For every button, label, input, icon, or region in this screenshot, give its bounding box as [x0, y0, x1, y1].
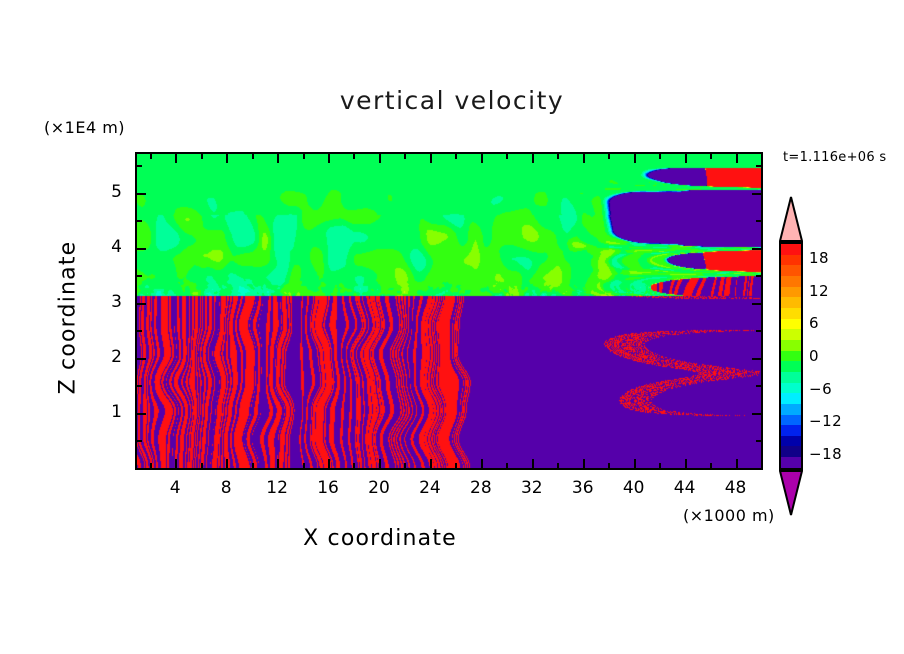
y-minor-tick: [756, 220, 761, 222]
x-major-tick: [532, 154, 534, 163]
y-major-tick: [752, 303, 761, 305]
x-minor-tick: [303, 154, 305, 159]
x-minor-tick: [455, 463, 457, 468]
timestamp-label: t=1.116e+06 s: [783, 150, 886, 165]
colorbar-band: [781, 255, 801, 266]
x-minor-tick: [404, 154, 406, 159]
y-minor-tick: [756, 165, 761, 167]
x-tick-label: 24: [410, 478, 450, 498]
y-major-tick: [137, 413, 146, 415]
y-tick-label: 4: [96, 237, 122, 257]
y-tick-label: 1: [96, 402, 122, 422]
y-minor-tick: [756, 275, 761, 277]
colorbar-tick-label: −12: [809, 412, 842, 430]
x-minor-tick: [303, 463, 305, 468]
colorbar-tick-label: −18: [809, 445, 842, 463]
x-major-tick: [430, 154, 432, 163]
colorbar: 181260−6−12−18: [775, 196, 835, 522]
x-major-tick: [175, 459, 177, 468]
y-axis-title: Z coordinate: [56, 188, 81, 448]
colorbar-band: [781, 265, 801, 276]
x-tick-label: 8: [206, 478, 246, 498]
colorbar-tick-label: 0: [809, 347, 819, 365]
x-major-tick: [175, 154, 177, 163]
colorbar-band: [781, 372, 801, 383]
colorbar-band: [781, 297, 801, 308]
y-minor-tick: [756, 440, 761, 442]
x-minor-tick: [201, 154, 203, 159]
y-axis-unit-label: (×1E4 m): [44, 118, 125, 137]
x-minor-tick: [252, 154, 254, 159]
colorbar-under-arrow-icon: [779, 470, 803, 516]
x-tick-label: 12: [257, 478, 297, 498]
x-minor-tick: [659, 463, 661, 468]
colorbar-band: [781, 404, 801, 415]
x-minor-tick: [659, 154, 661, 159]
colorbar-band: [781, 244, 801, 255]
x-major-tick: [481, 459, 483, 468]
y-tick-label: 3: [96, 292, 122, 312]
colorbar-tick-label: 12: [809, 282, 829, 300]
x-minor-tick: [761, 154, 763, 159]
y-major-tick: [137, 193, 146, 195]
x-minor-tick: [557, 463, 559, 468]
x-major-tick: [226, 154, 228, 163]
colorbar-band: [781, 457, 801, 468]
x-minor-tick: [353, 463, 355, 468]
x-tick-label: 32: [512, 478, 552, 498]
x-major-tick: [736, 154, 738, 163]
x-major-tick: [685, 459, 687, 468]
colorbar-tick-label: 18: [809, 249, 829, 267]
x-major-tick: [634, 154, 636, 163]
colorbar-tick-label: 6: [809, 314, 819, 332]
y-minor-tick: [756, 385, 761, 387]
x-major-tick: [685, 154, 687, 163]
colorbar-band: [781, 329, 801, 340]
x-tick-label: 36: [563, 478, 603, 498]
x-minor-tick: [150, 463, 152, 468]
x-tick-label: 20: [359, 478, 399, 498]
x-minor-tick: [608, 154, 610, 159]
x-tick-label: 16: [308, 478, 348, 498]
contour-field-canvas: [137, 154, 761, 468]
y-minor-tick: [137, 385, 142, 387]
x-minor-tick: [353, 154, 355, 159]
x-major-tick: [277, 154, 279, 163]
y-major-tick: [752, 193, 761, 195]
colorbar-band: [781, 276, 801, 287]
x-minor-tick: [710, 154, 712, 159]
x-axis-title: X coordinate: [0, 526, 760, 551]
colorbar-band: [781, 287, 801, 298]
y-minor-tick: [137, 440, 142, 442]
x-major-tick: [481, 154, 483, 163]
chart-title: vertical velocity: [0, 86, 904, 115]
y-major-tick: [752, 358, 761, 360]
x-minor-tick: [608, 463, 610, 468]
x-minor-tick: [506, 154, 508, 159]
x-minor-tick: [506, 463, 508, 468]
colorbar-tick-label: −6: [809, 380, 832, 398]
y-tick-label: 5: [96, 182, 122, 202]
y-minor-tick: [137, 275, 142, 277]
x-tick-label: 40: [614, 478, 654, 498]
colorbar-over-arrow-icon: [779, 196, 803, 242]
y-major-tick: [137, 303, 146, 305]
colorbar-band: [781, 436, 801, 447]
x-major-tick: [583, 154, 585, 163]
x-major-tick: [277, 459, 279, 468]
y-major-tick: [752, 413, 761, 415]
colorbar-band: [781, 361, 801, 372]
x-tick-label: 28: [461, 478, 501, 498]
colorbar-band: [781, 340, 801, 351]
y-minor-tick: [137, 165, 142, 167]
x-tick-label: 4: [155, 478, 195, 498]
x-major-tick: [328, 154, 330, 163]
y-minor-tick: [756, 330, 761, 332]
colorbar-bands: [779, 242, 803, 470]
y-minor-tick: [137, 330, 142, 332]
x-major-tick: [328, 459, 330, 468]
colorbar-band: [781, 319, 801, 330]
x-minor-tick: [557, 154, 559, 159]
plot-area: [135, 152, 763, 470]
colorbar-band: [781, 383, 801, 394]
x-minor-tick: [150, 154, 152, 159]
y-tick-label: 2: [96, 347, 122, 367]
x-minor-tick: [455, 154, 457, 159]
x-major-tick: [736, 459, 738, 468]
x-major-tick: [430, 459, 432, 468]
x-minor-tick: [201, 463, 203, 468]
x-axis-unit-label: (×1000 m): [683, 506, 775, 525]
colorbar-band: [781, 415, 801, 426]
x-tick-label: 44: [665, 478, 705, 498]
y-minor-tick: [137, 220, 142, 222]
x-major-tick: [379, 154, 381, 163]
colorbar-band: [781, 393, 801, 404]
x-major-tick: [226, 459, 228, 468]
colorbar-band: [781, 446, 801, 457]
x-minor-tick: [761, 463, 763, 468]
x-major-tick: [532, 459, 534, 468]
x-tick-label: 48: [716, 478, 756, 498]
x-major-tick: [583, 459, 585, 468]
y-major-tick: [752, 248, 761, 250]
y-major-tick: [137, 358, 146, 360]
colorbar-band: [781, 308, 801, 319]
colorbar-band: [781, 351, 801, 362]
x-minor-tick: [710, 463, 712, 468]
x-minor-tick: [404, 463, 406, 468]
colorbar-band: [781, 425, 801, 436]
x-major-tick: [634, 459, 636, 468]
y-major-tick: [137, 248, 146, 250]
x-minor-tick: [252, 463, 254, 468]
x-major-tick: [379, 459, 381, 468]
